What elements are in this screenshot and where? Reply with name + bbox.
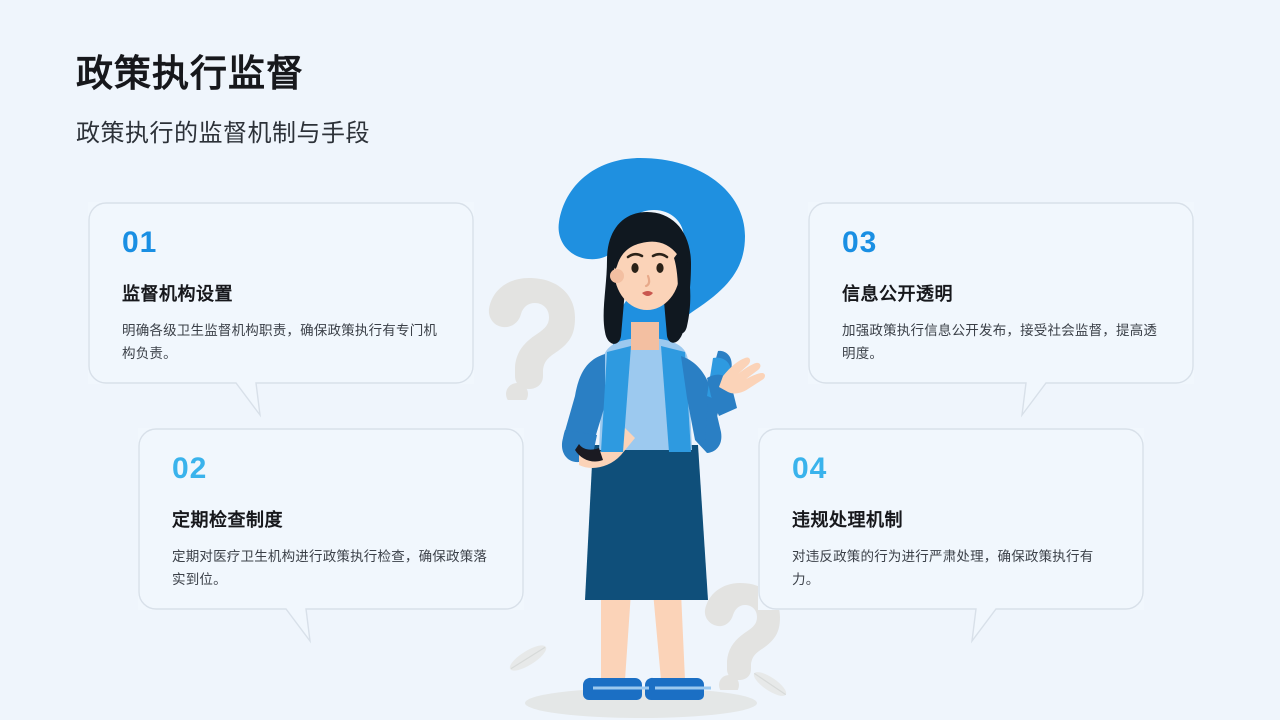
card-description: 加强政策执行信息公开发布，接受社会监督，提高透明度。 — [842, 319, 1160, 365]
slide-header: 政策执行监督 政策执行的监督机制与手段 — [76, 52, 370, 148]
card-content: 04 违规处理机制 对违反政策的行为进行严肃处理，确保政策执行有力。 — [758, 428, 1144, 591]
card-description: 明确各级卫生监督机构职责，确保政策执行有专门机构负责。 — [122, 319, 440, 365]
card-number: 03 — [842, 228, 1160, 258]
slide-canvas: 政策执行监督 政策执行的监督机制与手段 — [0, 0, 1280, 720]
info-card-04[interactable]: 04 违规处理机制 对违反政策的行为进行严肃处理，确保政策执行有力。 — [758, 428, 1144, 610]
card-number: 02 — [172, 454, 490, 484]
card-number: 01 — [122, 228, 440, 258]
card-heading: 定期检查制度 — [172, 506, 490, 532]
page-title: 政策执行监督 — [76, 52, 370, 96]
card-heading: 违规处理机制 — [792, 506, 1110, 532]
info-card-03[interactable]: 03 信息公开透明 加强政策执行信息公开发布，接受社会监督，提高透明度。 — [808, 202, 1194, 384]
card-content: 02 定期检查制度 定期对医疗卫生机构进行政策执行检查，确保政策落实到位。 — [138, 428, 524, 591]
info-card-01[interactable]: 01 监督机构设置 明确各级卫生监督机构职责，确保政策执行有专门机构负责。 — [88, 202, 474, 384]
card-description: 对违反政策的行为进行严肃处理，确保政策执行有力。 — [792, 545, 1110, 591]
card-heading: 监督机构设置 — [122, 280, 440, 306]
card-heading: 信息公开透明 — [842, 280, 1160, 306]
decor-question-mark-icon — [483, 272, 575, 400]
decor-leaf-icon-2 — [748, 664, 792, 704]
page-subtitle: 政策执行的监督机制与手段 — [76, 113, 370, 148]
card-description: 定期对医疗卫生机构进行政策执行检查，确保政策落实到位。 — [172, 545, 490, 591]
card-content: 03 信息公开透明 加强政策执行信息公开发布，接受社会监督，提高透明度。 — [808, 202, 1194, 365]
info-card-02[interactable]: 02 定期检查制度 定期对医疗卫生机构进行政策执行检查，确保政策落实到位。 — [138, 428, 524, 610]
card-content: 01 监督机构设置 明确各级卫生监督机构职责，确保政策执行有专门机构负责。 — [88, 202, 474, 365]
card-number: 04 — [792, 454, 1110, 484]
